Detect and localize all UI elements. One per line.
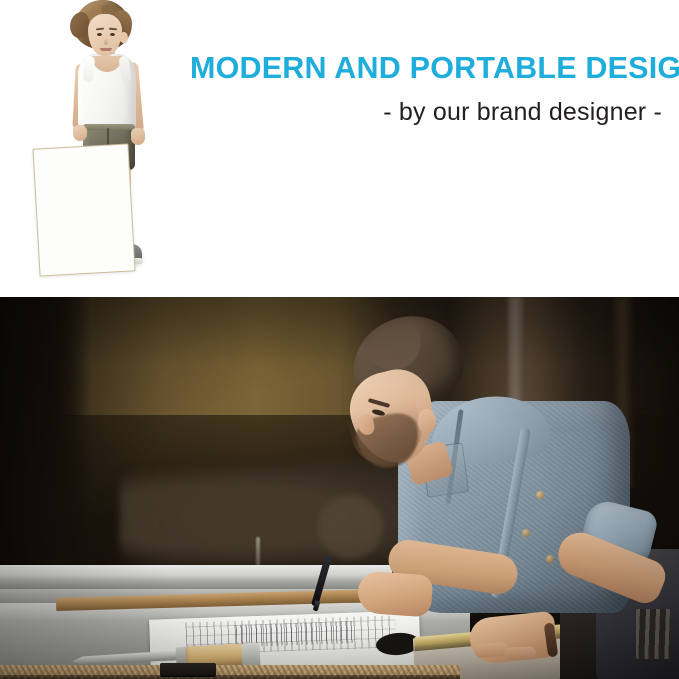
carpenter-shirt-button bbox=[536, 491, 544, 499]
top-white-section: MODERN AND PORTABLE DESIGN - by our bran… bbox=[0, 0, 679, 297]
particleboard-shadow bbox=[0, 675, 460, 679]
carpenter-shirt-button bbox=[522, 529, 530, 537]
carpenter-apron-tools bbox=[636, 609, 670, 659]
carpenter-shirt-button bbox=[546, 555, 554, 563]
carpenter-ear bbox=[418, 409, 436, 433]
boy-nose bbox=[104, 38, 108, 45]
carpenter-finger bbox=[474, 642, 509, 658]
headline-block: MODERN AND PORTABLE DESIGN - by our bran… bbox=[190, 52, 662, 126]
boy-hand-left bbox=[73, 125, 87, 141]
headline-text: MODERN AND PORTABLE DESIGN bbox=[190, 52, 662, 85]
carpenter-workshop-photo bbox=[0, 297, 679, 679]
subheadline-text: - by our brand designer - bbox=[190, 99, 662, 127]
boy-holding-blank-sign-figure bbox=[36, 0, 166, 288]
boy-mouth bbox=[100, 48, 112, 51]
boy-hair-curl-left bbox=[70, 12, 90, 38]
boy-shorts-waistband bbox=[83, 124, 135, 130]
carpenter-hand-left bbox=[357, 570, 434, 617]
boy-eye-right bbox=[110, 33, 115, 36]
boy-eye-left bbox=[97, 33, 102, 36]
boy-hand-right bbox=[131, 128, 145, 145]
boy-ear bbox=[120, 32, 128, 43]
carpenter-finger bbox=[504, 646, 536, 660]
blank-sign-board bbox=[33, 143, 136, 276]
saw-fence-rail bbox=[0, 565, 392, 591]
product-banner: MODERN AND PORTABLE DESIGN - by our bran… bbox=[0, 0, 679, 679]
